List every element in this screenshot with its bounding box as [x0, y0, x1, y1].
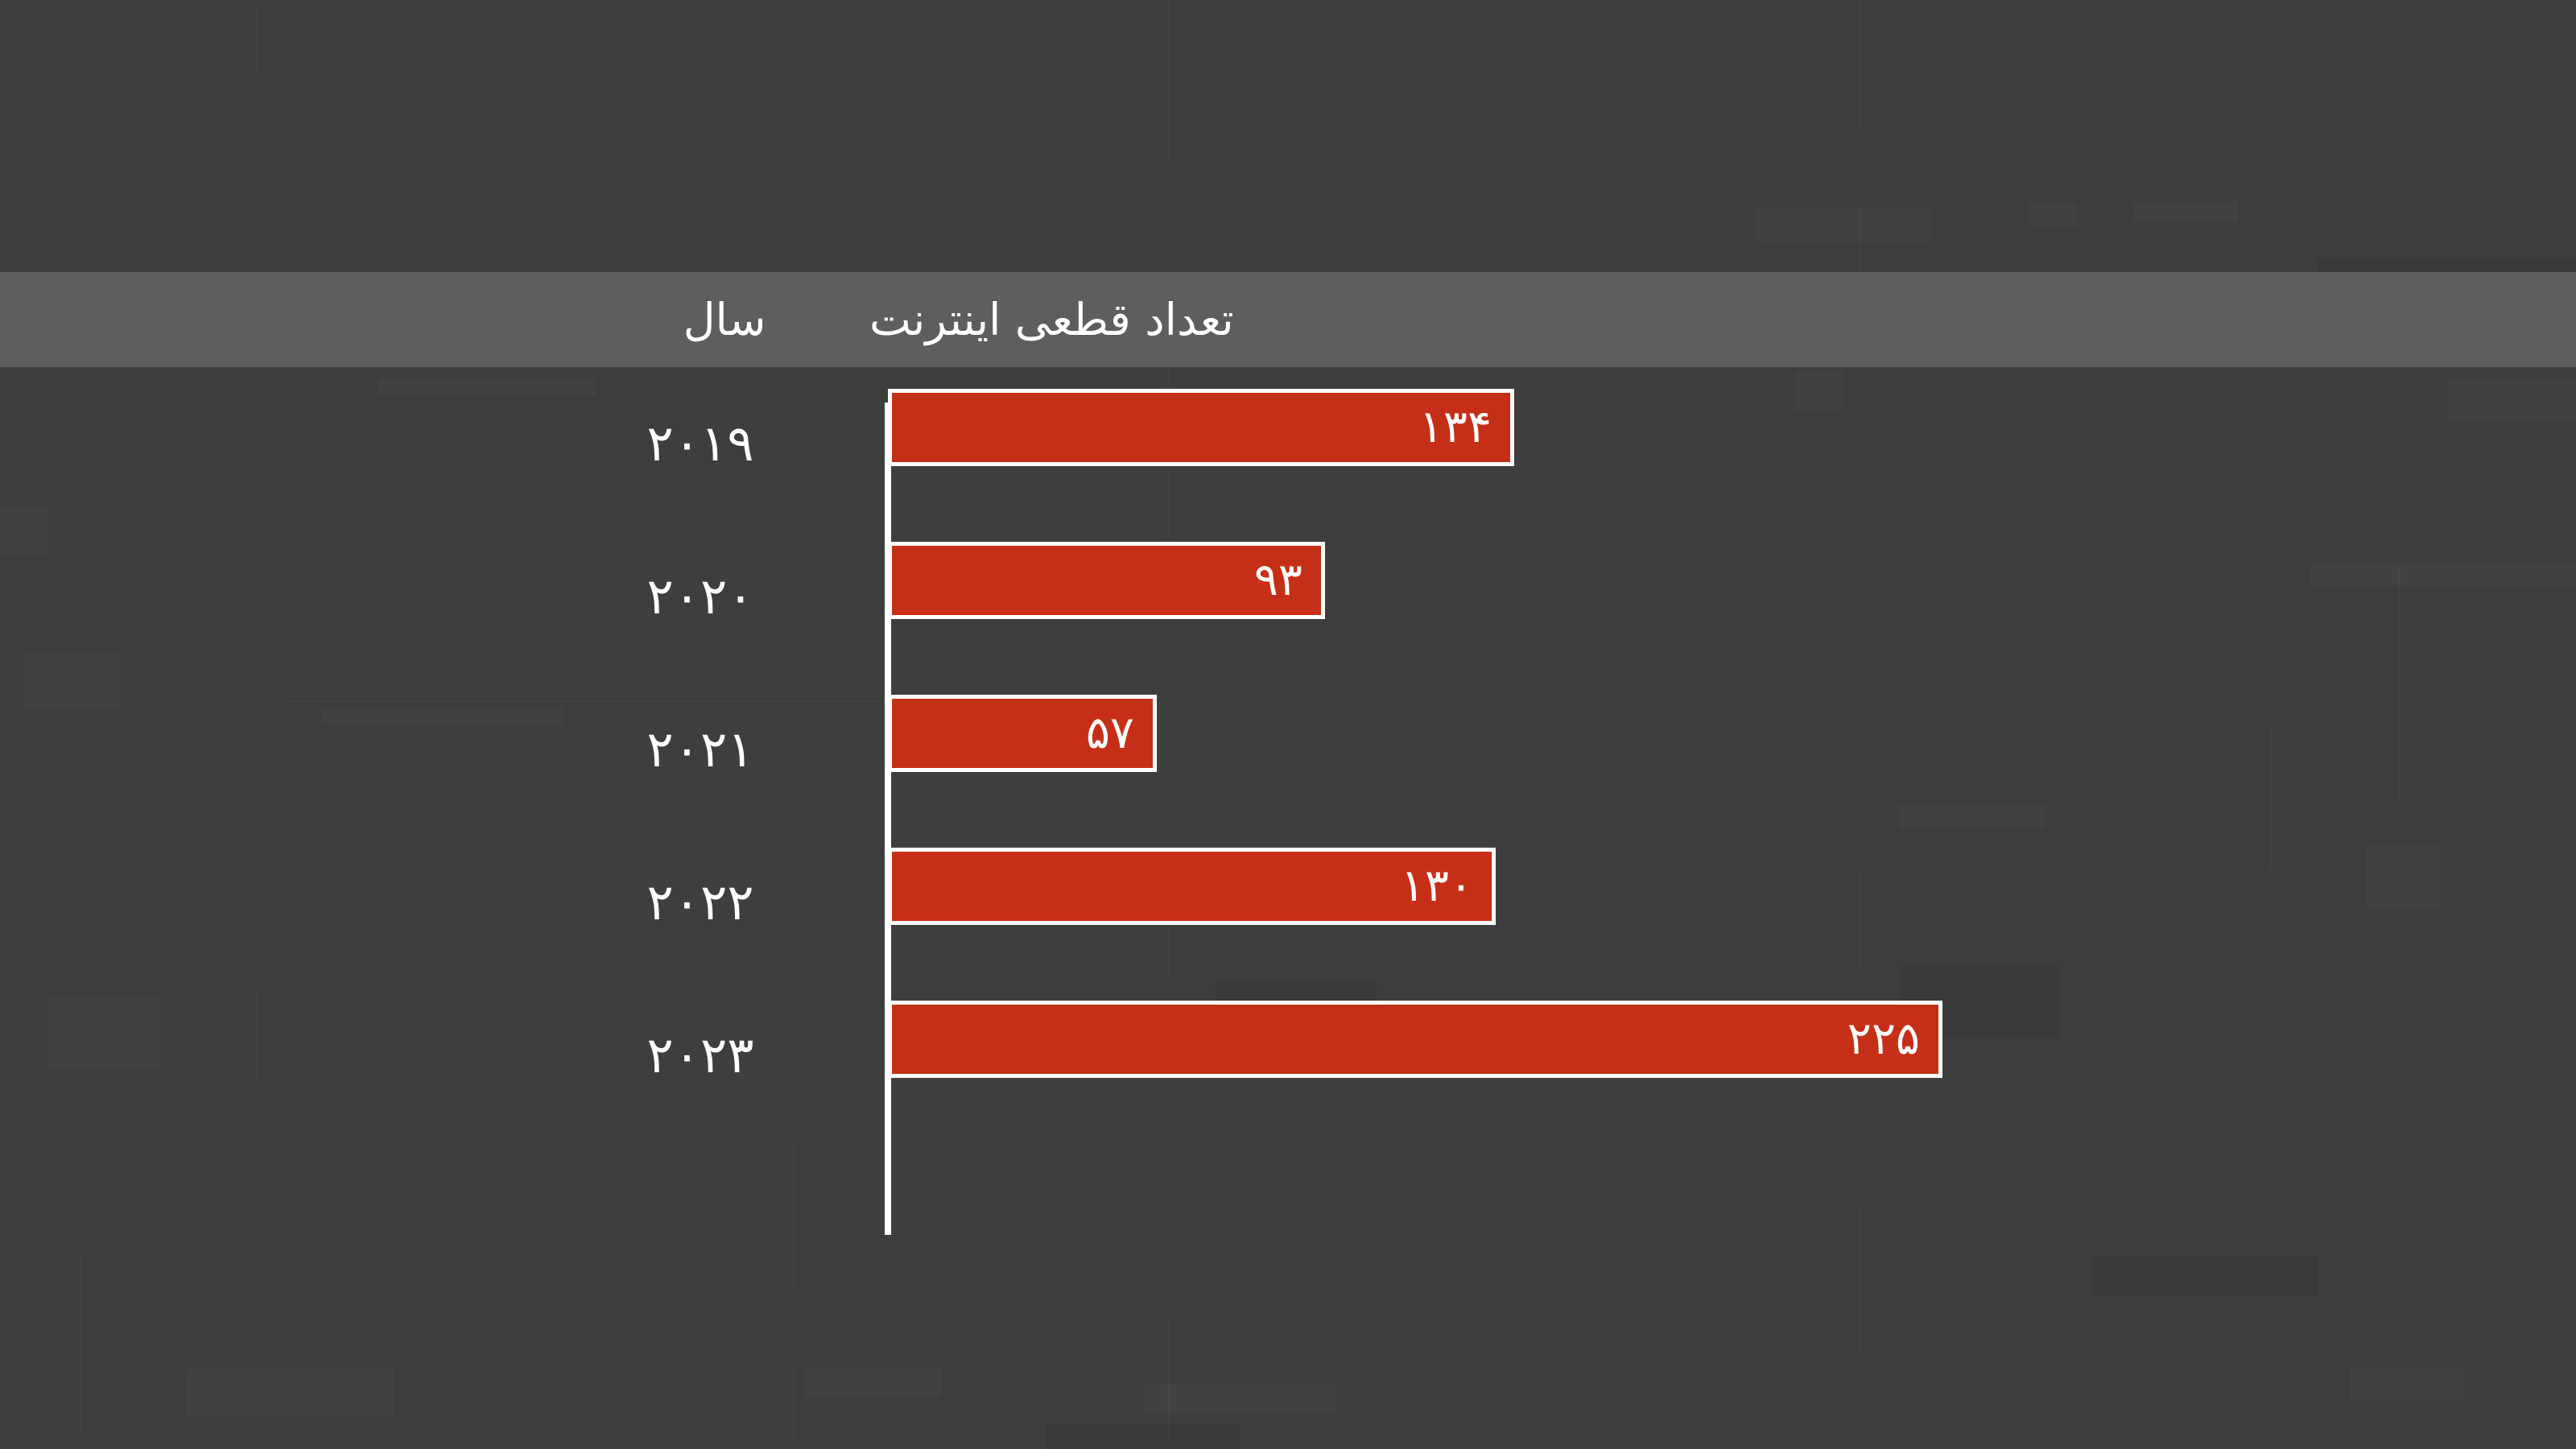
bar-container: ۵۷ — [888, 695, 1157, 772]
bar-container: ۹۳ — [888, 542, 1325, 619]
row-label-year: ۲۰۲۰ — [563, 520, 837, 673]
bar-2023[interactable] — [888, 1001, 1942, 1078]
bar-value-label: ۵۷ — [1086, 695, 1134, 772]
bar-value-label: ۲۲۵ — [1847, 1001, 1920, 1078]
bar-value-label: ۱۳۰ — [1401, 848, 1473, 925]
bar-value-label: ۹۳ — [1254, 542, 1302, 619]
table-header-band: سال تعداد قطعی اینترنت — [0, 272, 2576, 367]
column-header-year: سال — [612, 272, 837, 367]
bar-chart: ۲۰۱۹ ۱۳۴ ۲۰۲۰ ۹۳ ۲۰۲۱ ۵۷ ۲۰۲۲ ۱۳۰ ۲۰۲۳ ۲… — [0, 367, 2576, 1449]
bar-container: ۲۲۵ — [888, 1001, 1942, 1078]
chart-row: ۲۰۲۰ ۹۳ — [0, 520, 2576, 673]
row-label-year: ۲۰۲۳ — [563, 979, 837, 1132]
chart-row: ۲۰۲۱ ۵۷ — [0, 673, 2576, 826]
row-label-year: ۲۰۱۹ — [563, 367, 837, 520]
chart-row: ۲۰۲۲ ۱۳۰ — [0, 826, 2576, 979]
row-label-year: ۲۰۲۲ — [563, 826, 837, 979]
value-axis-line — [885, 402, 891, 1235]
chart-row: ۲۰۲۳ ۲۲۵ — [0, 979, 2576, 1132]
chart-row: ۲۰۱۹ ۱۳۴ — [0, 367, 2576, 520]
bar-container: ۱۳۴ — [888, 389, 1514, 466]
row-label-year: ۲۰۲۱ — [563, 673, 837, 826]
bar-container: ۱۳۰ — [888, 848, 1496, 925]
column-header-internet-outages: تعداد قطعی اینترنت — [869, 272, 1234, 367]
bar-value-label: ۱۳۴ — [1419, 389, 1492, 466]
